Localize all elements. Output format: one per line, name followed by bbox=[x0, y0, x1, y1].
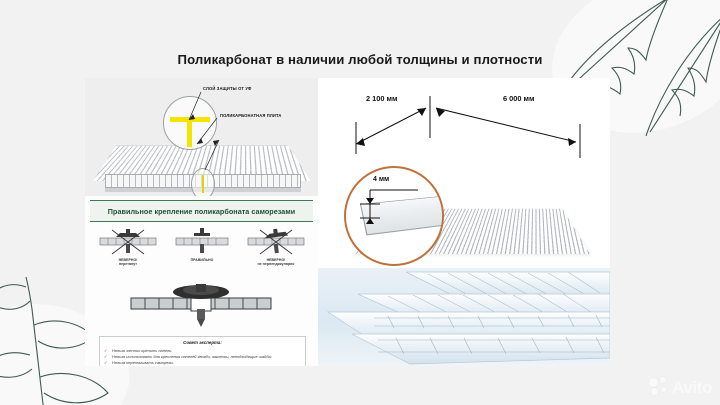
thickness-label: 4 мм bbox=[373, 176, 389, 183]
screw-figure-1-caption-line2: перетянут bbox=[92, 262, 164, 266]
width-dimension-label: 2 100 мм bbox=[366, 94, 397, 103]
page-title: Поликарбонат в наличии любой толщины и п… bbox=[0, 52, 720, 67]
screw-figure-2-caption-line1: ПРАВИЛЬНО bbox=[166, 258, 238, 262]
screw-figure-1-caption: НЕВЕРНО! перетянут bbox=[92, 258, 164, 267]
right-photo-panel: 2 100 мм 6 000 мм bbox=[318, 78, 610, 366]
sheet-dimensions-photo: 2 100 мм 6 000 мм bbox=[318, 78, 610, 268]
length-dimension-label: 6 000 мм bbox=[503, 94, 534, 103]
screw-figure-3-caption-line2: не перпендикулярно bbox=[240, 262, 312, 266]
screw-figure-2-graphic bbox=[166, 224, 238, 258]
screw-figure-3-graphic bbox=[240, 224, 312, 258]
left-info-panel: СЛОЙ ЗАЩИТЫ ОТ УФ ПОЛИКАРБОНАТНАЯ ПЛИТА … bbox=[85, 78, 318, 366]
green-heading-label: Правильное крепление поликарбоната самор… bbox=[108, 207, 295, 216]
avito-watermark: Avito bbox=[649, 377, 712, 397]
screw-figure-1-graphic bbox=[92, 224, 164, 258]
thickness-dimension-arrow bbox=[346, 168, 442, 264]
callout-leader-lines bbox=[85, 78, 318, 196]
green-heading-bar: Правильное крепление поликарбоната самор… bbox=[90, 200, 313, 222]
polycarbonate-plate-label: ПОЛИКАРБОНАТНАЯ ПЛИТА bbox=[220, 113, 281, 118]
screw-figure-3-caption: НЕВЕРНО! не перпендикулярно bbox=[240, 258, 312, 267]
screw-cross-section-diagram bbox=[125, 280, 277, 332]
expert-tip-item: Нельзя перетягивать саморезы. bbox=[112, 360, 299, 366]
expert-tip-list: Нельзя жестко крепить панели. Нельзя исп… bbox=[100, 348, 305, 366]
avito-logo-icon bbox=[649, 377, 669, 397]
screw-figure-2-caption: ПРАВИЛЬНО bbox=[166, 258, 238, 262]
panel-structure-diagram: СЛОЙ ЗАЩИТЫ ОТ УФ ПОЛИКАРБОНАТНАЯ ПЛИТА bbox=[85, 78, 318, 196]
slide-canvas: Поликарбонат в наличии любой толщины и п… bbox=[0, 0, 720, 405]
thickness-callout-circle: 4 мм bbox=[344, 166, 444, 266]
screw-figure-correct: ПРАВИЛЬНО bbox=[166, 224, 238, 262]
stacked-sheets-graphic bbox=[318, 268, 610, 366]
screw-figure-wrong-overtightened: НЕВЕРНО! перетянут bbox=[92, 224, 164, 267]
screw-figures-row: НЕВЕРНО! перетянут ПРАВИЛЬНО bbox=[90, 224, 313, 282]
avito-wordmark: Avito bbox=[672, 379, 712, 396]
stacked-sheets-photo bbox=[318, 268, 610, 366]
expert-tip-title: Совет эксперта: bbox=[100, 340, 305, 345]
screw-figure-wrong-not-perpendicular: НЕВЕРНО! не перпендикулярно bbox=[240, 224, 312, 267]
expert-tip-box: Совет эксперта: Нельзя жестко крепить па… bbox=[99, 336, 306, 366]
uv-layer-label: СЛОЙ ЗАЩИТЫ ОТ УФ bbox=[203, 86, 252, 91]
